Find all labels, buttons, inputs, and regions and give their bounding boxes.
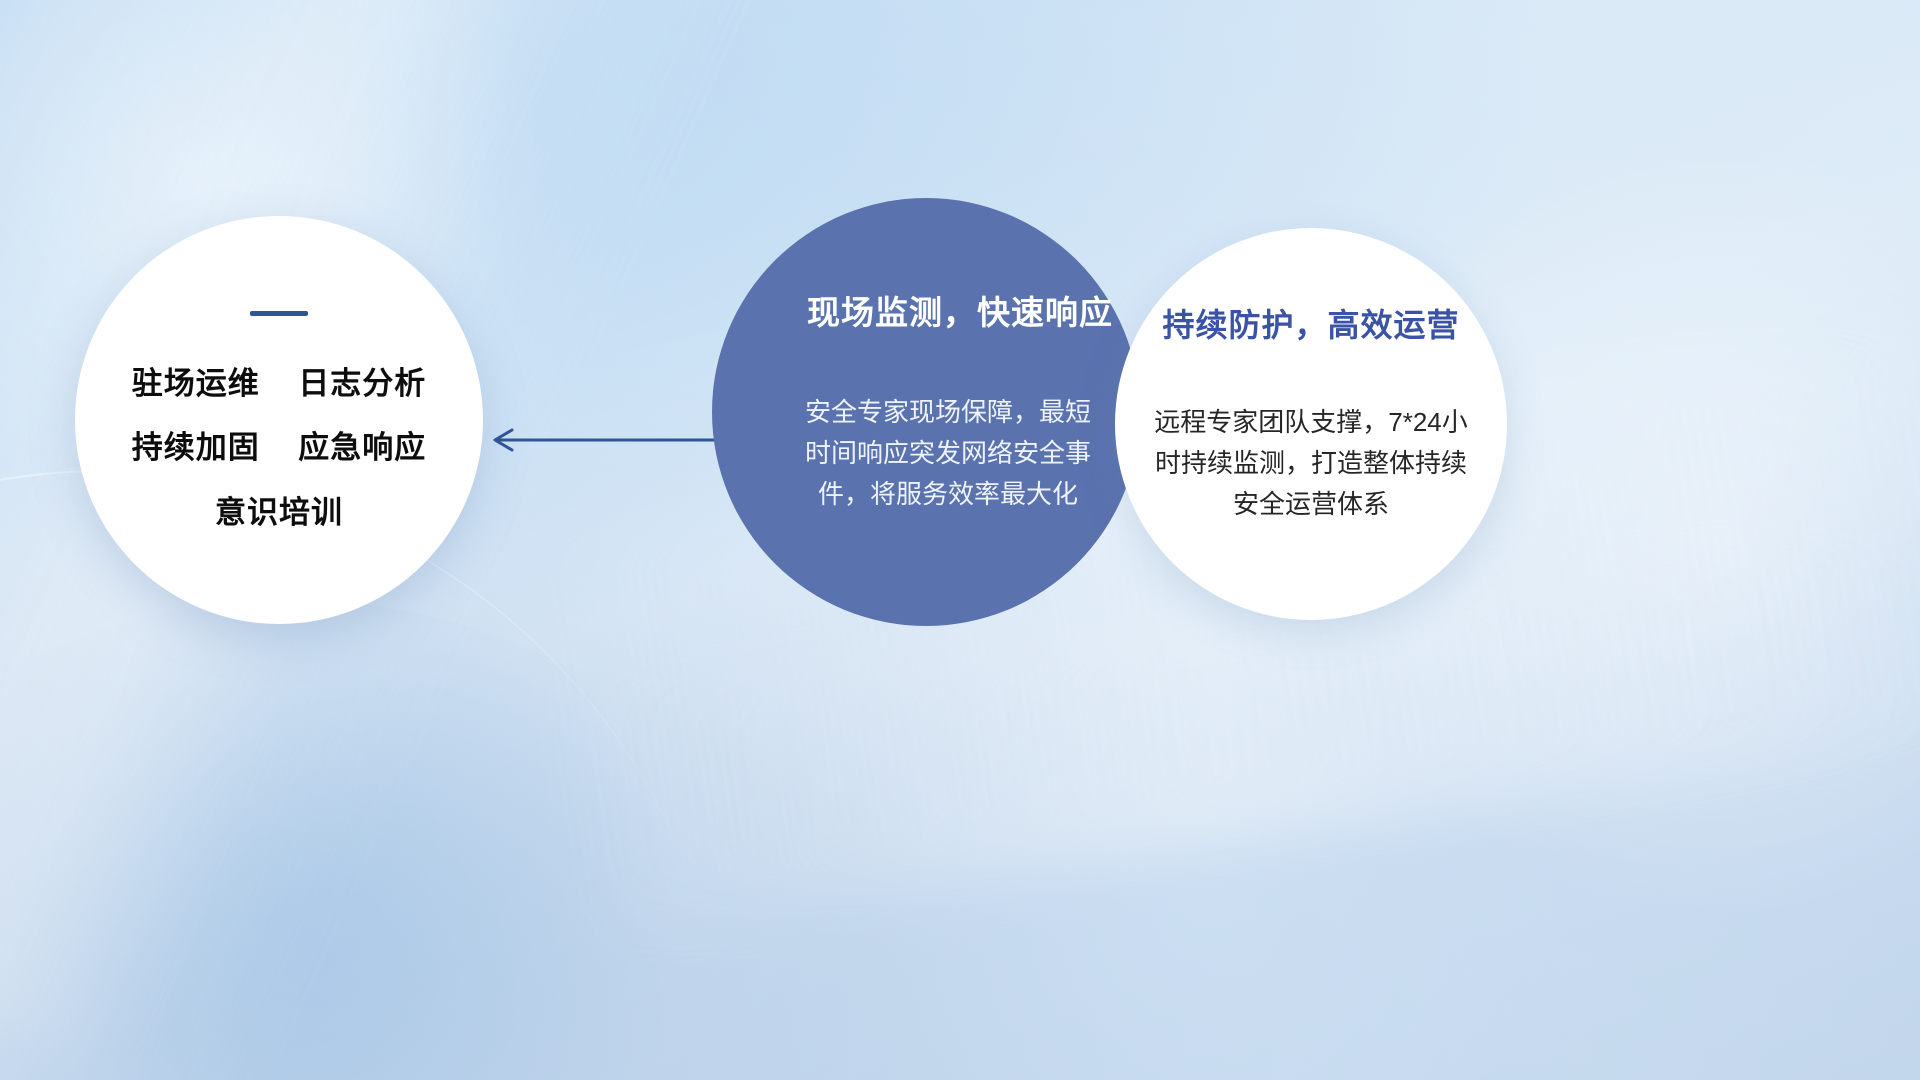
capability-line-3: 意识培训 [215,497,343,530]
onsite-monitoring-body: 安全专家现场保障，最短时间响应突发网络安全事件，将服务效率最大化 [798,392,1098,515]
service-capability-circle[interactable]: 驻场运维 日志分析 持续加固 应急响应 意识培训 [75,216,483,624]
title-divider-dash [250,311,308,316]
onsite-monitoring-title: 现场监测，快速响应 [807,286,1113,334]
capability-line-1: 驻场运维 日志分析 [132,368,426,401]
arrow-left-icon [480,418,720,462]
continuous-protection-body: 远程专家团队支撑，7*24小时持续监测，打造整体持续安全运营体系 [1143,402,1479,525]
continuous-protection-title: 持续防护，高效运营 [1162,300,1459,346]
onsite-monitoring-circle[interactable]: 现场监测，快速响应 安全专家现场保障，最短时间响应突发网络安全事件，将服务效率最… [712,198,1140,626]
slide-canvas: 驻场运维 日志分析 持续加固 应急响应 意识培训 现场监测，快速响应 安全专家现… [0,0,1920,1080]
continuous-protection-circle[interactable]: 持续防护，高效运营 远程专家团队支撑，7*24小时持续监测，打造整体持续安全运营… [1115,228,1507,620]
capability-line-2: 持续加固 应急响应 [132,432,426,465]
